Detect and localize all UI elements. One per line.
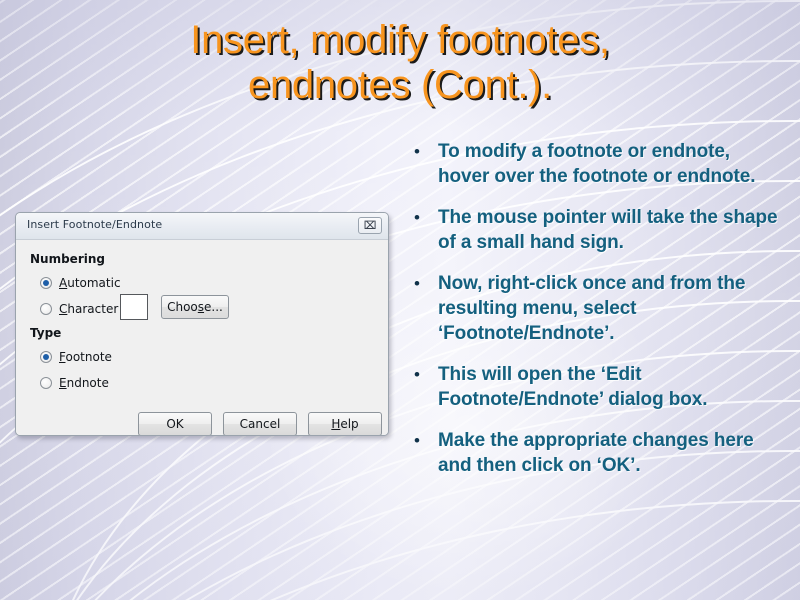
insert-footnote-endnote-dialog: Insert Footnote/Endnote ⌧ Numbering Auto… — [15, 212, 389, 436]
radio-label-endnote: Endnote — [59, 376, 109, 390]
radio-label-character: Character — [59, 302, 118, 316]
label-rest: elp — [340, 417, 358, 431]
bullet-text: Now, right-click once and from the resul… — [438, 271, 780, 346]
radio-automatic[interactable]: Automatic — [40, 276, 121, 290]
label-rest: e... — [204, 300, 223, 314]
ok-button[interactable]: OK — [138, 412, 212, 436]
cancel-button[interactable]: Cancel — [223, 412, 297, 436]
radio-indicator-character[interactable] — [40, 303, 52, 315]
bullet-text: To modify a footnote or endnote, hover o… — [438, 139, 780, 189]
slide-canvas: Insert, modify footnotes, endnotes (Cont… — [0, 0, 800, 600]
bullet-icon: • — [408, 271, 438, 296]
bullet-text: This will open the ‘Edit Footnote/Endnot… — [438, 362, 780, 412]
list-item: • To modify a footnote or endnote, hover… — [408, 139, 780, 189]
label-rest: ndnote — [67, 376, 109, 390]
bullet-text: The mouse pointer will take the shape of… — [438, 205, 780, 255]
radio-footnote[interactable]: Footnote — [40, 350, 112, 364]
help-button[interactable]: Help — [308, 412, 382, 436]
list-item: • Make the appropriate changes here and … — [408, 428, 780, 478]
dialog-title: Insert Footnote/Endnote — [27, 218, 162, 231]
radio-indicator-endnote[interactable] — [40, 377, 52, 389]
bullet-icon: • — [408, 205, 438, 230]
bullet-icon: • — [408, 362, 438, 387]
bullet-icon: • — [408, 139, 438, 164]
list-item: • Now, right-click once and from the res… — [408, 271, 780, 346]
character-input[interactable] — [120, 294, 148, 320]
accel-key: A — [59, 276, 67, 290]
label-rest: utomatic — [67, 276, 120, 290]
list-item: • This will open the ‘Edit Footnote/Endn… — [408, 362, 780, 412]
radio-endnote[interactable]: Endnote — [40, 376, 109, 390]
label-prefix: Choo — [167, 300, 198, 314]
radio-label-footnote: Footnote — [59, 350, 112, 364]
label-prefix: Cancel — [240, 417, 281, 431]
bullet-list: • To modify a footnote or endnote, hover… — [408, 139, 780, 494]
dialog-titlebar: Insert Footnote/Endnote ⌧ — [16, 213, 388, 240]
page-title: Insert, modify footnotes, endnotes (Cont… — [40, 18, 760, 108]
accel-key: E — [59, 376, 67, 390]
label-rest: ootnote — [65, 350, 111, 364]
list-item: • The mouse pointer will take the shape … — [408, 205, 780, 255]
type-group-label: Type — [30, 326, 61, 340]
dialog-body: Numbering Automatic Character Choose... … — [16, 240, 388, 436]
radio-indicator-footnote[interactable] — [40, 351, 52, 363]
radio-character[interactable]: Character — [40, 302, 118, 316]
radio-label-automatic: Automatic — [59, 276, 121, 290]
label-rest: haracter — [67, 302, 118, 316]
label-prefix: OK — [166, 417, 183, 431]
numbering-group-label: Numbering — [30, 252, 105, 266]
close-icon[interactable]: ⌧ — [358, 217, 382, 234]
bullet-text: Make the appropriate changes here and th… — [438, 428, 780, 478]
radio-indicator-automatic[interactable] — [40, 277, 52, 289]
bullet-icon: • — [408, 428, 438, 453]
accel-key: H — [331, 417, 340, 431]
choose-button[interactable]: Choose... — [161, 295, 229, 319]
